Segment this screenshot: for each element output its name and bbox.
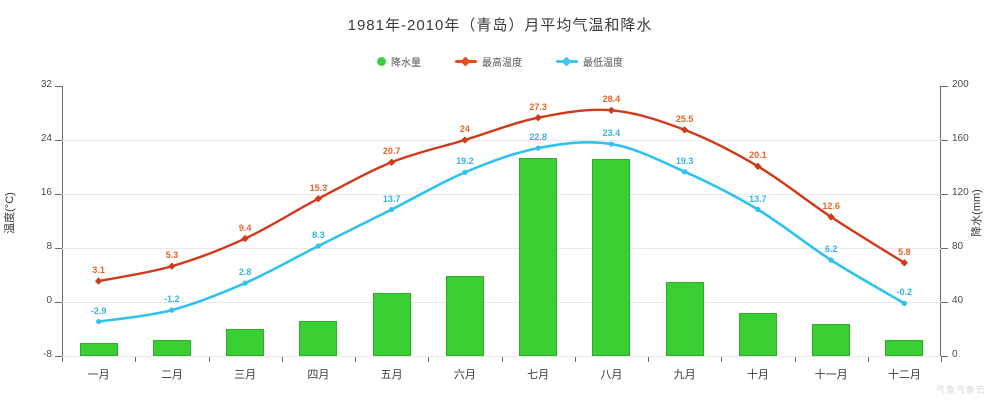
temperature-lines	[0, 0, 1000, 402]
max-temp-value-label: 24	[460, 124, 470, 134]
min-temp-point[interactable]	[462, 170, 467, 175]
min-temp-point[interactable]	[96, 319, 101, 324]
min-temp-point[interactable]	[169, 308, 174, 313]
max-temp-point[interactable]	[608, 107, 615, 114]
min-temp-value-label: 22.8	[529, 132, 547, 142]
min-temp-point[interactable]	[389, 207, 394, 212]
min-temp-point[interactable]	[536, 146, 541, 151]
min-temp-value-label: 19.3	[676, 156, 694, 166]
min-temp-value-label: 19.2	[456, 156, 474, 166]
max-temp-value-label: 27.3	[529, 102, 547, 112]
max-temp-value-label: 28.4	[603, 94, 621, 104]
max-temp-value-label: 5.3	[166, 250, 179, 260]
min-temp-value-label: -1.2	[164, 294, 180, 304]
min-temp-point[interactable]	[243, 281, 248, 286]
min-temp-point[interactable]	[829, 258, 834, 263]
chart-canvas: 1981年-2010年（青岛）月平均气温和降水 降水量 最高温度 最低温度 温度…	[0, 0, 1000, 402]
watermark: 气象气象云	[936, 383, 986, 396]
min-temp-value-label: 2.8	[239, 267, 252, 277]
min-temp-point[interactable]	[316, 243, 321, 248]
max-temp-value-label: 9.4	[239, 223, 252, 233]
max-temp-point[interactable]	[95, 277, 102, 284]
max-temp-point[interactable]	[168, 263, 175, 270]
max-temp-value-label: 3.1	[92, 265, 105, 275]
min-temp-curve	[99, 142, 905, 321]
min-temp-value-label: -2.9	[91, 306, 107, 316]
max-temp-point[interactable]	[461, 136, 468, 143]
min-temp-point[interactable]	[682, 169, 687, 174]
max-temp-value-label: 12.6	[822, 201, 840, 211]
min-temp-point[interactable]	[755, 207, 760, 212]
max-temp-value-label: 25.5	[676, 114, 694, 124]
max-temp-value-label: 15.3	[310, 183, 328, 193]
min-temp-point[interactable]	[902, 301, 907, 306]
min-temp-point[interactable]	[609, 141, 614, 146]
max-temp-point[interactable]	[241, 235, 248, 242]
min-temp-value-label: 13.7	[749, 194, 767, 204]
min-temp-value-label: 8.3	[312, 230, 325, 240]
max-temp-point[interactable]	[534, 114, 541, 121]
max-temp-value-label: 5.8	[898, 247, 911, 257]
min-temp-value-label: -0.2	[897, 287, 913, 297]
min-temp-value-label: 13.7	[383, 194, 401, 204]
max-temp-curve	[99, 110, 905, 281]
max-temp-value-label: 20.1	[749, 150, 767, 160]
min-temp-value-label: 6.2	[825, 244, 838, 254]
max-temp-point[interactable]	[681, 126, 688, 133]
max-temp-point[interactable]	[388, 159, 395, 166]
min-temp-value-label: 23.4	[603, 128, 621, 138]
max-temp-value-label: 20.7	[383, 146, 401, 156]
